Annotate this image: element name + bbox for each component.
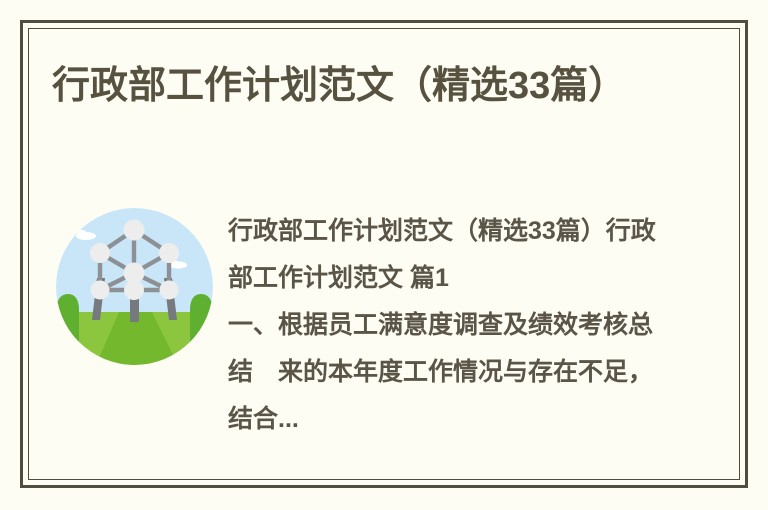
hill-right <box>190 294 213 365</box>
atomium-landmark-illustration <box>56 208 213 365</box>
article-thumbnail[interactable] <box>56 208 213 365</box>
article-card[interactable]: 行政部工作计划范文（精选33篇）行政部工作计划范文 篇1 一、根据员工满意度调查… <box>56 208 676 443</box>
page-root: 行政部工作计划范文（精选33篇） <box>0 0 768 510</box>
hill-left <box>56 294 79 365</box>
page-title: 行政部工作计划范文（精选33篇） <box>52 58 692 115</box>
article-summary-text: 行政部工作计划范文（精选33篇）行政部工作计划范文 篇1 一、根据员工满意度调查… <box>228 208 676 443</box>
